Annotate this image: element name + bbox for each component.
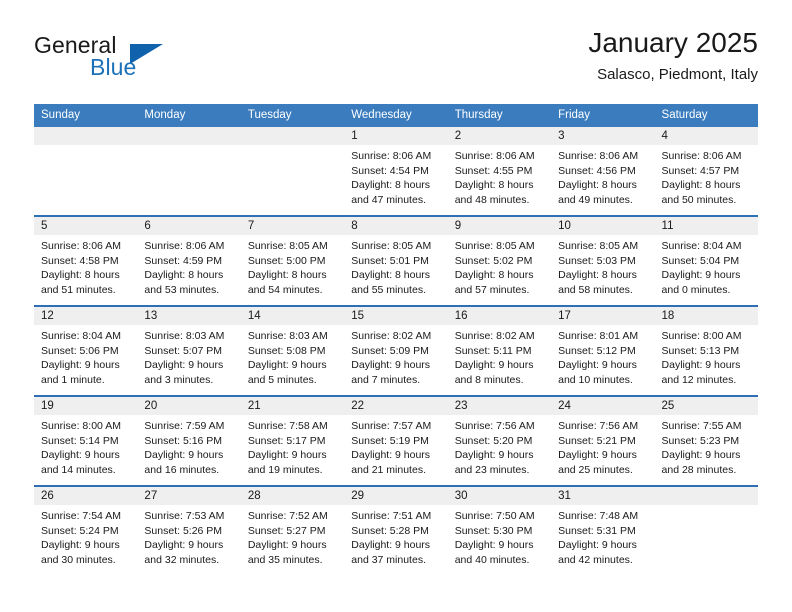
daylight-duration-line1: Daylight: 9 hours (41, 538, 130, 553)
title-block: January 2025 Salasco, Piedmont, Italy (588, 26, 758, 86)
sunset-time: Sunset: 5:16 PM (144, 434, 233, 449)
calendar-day-cell[interactable]: 21Sunrise: 7:58 AMSunset: 5:17 PMDayligh… (241, 397, 344, 485)
day-details: Sunrise: 7:51 AMSunset: 5:28 PMDaylight:… (344, 505, 447, 567)
sunset-time: Sunset: 4:58 PM (41, 254, 130, 269)
daylight-duration-line1: Daylight: 9 hours (558, 448, 647, 463)
weekday-header-monday: Monday (137, 104, 240, 127)
sunset-time: Sunset: 5:31 PM (558, 524, 647, 539)
sunrise-time: Sunrise: 8:06 AM (662, 149, 751, 164)
day-details: Sunrise: 7:59 AMSunset: 5:16 PMDaylight:… (137, 415, 240, 477)
daylight-duration-line2: and 7 minutes. (351, 373, 440, 388)
daylight-duration-line1: Daylight: 9 hours (248, 538, 337, 553)
sunset-time: Sunset: 5:01 PM (351, 254, 440, 269)
day-details: Sunrise: 8:02 AMSunset: 5:09 PMDaylight:… (344, 325, 447, 387)
calendar-day-cell-empty (241, 127, 344, 215)
sunset-time: Sunset: 5:27 PM (248, 524, 337, 539)
sunrise-time: Sunrise: 7:48 AM (558, 509, 647, 524)
day-details: Sunrise: 7:56 AMSunset: 5:20 PMDaylight:… (448, 415, 551, 477)
calendar-day-cell[interactable]: 24Sunrise: 7:56 AMSunset: 5:21 PMDayligh… (551, 397, 654, 485)
day-details: Sunrise: 8:05 AMSunset: 5:02 PMDaylight:… (448, 235, 551, 297)
sunset-time: Sunset: 5:14 PM (41, 434, 130, 449)
calendar-day-cell[interactable]: 30Sunrise: 7:50 AMSunset: 5:30 PMDayligh… (448, 487, 551, 575)
daylight-duration-line1: Daylight: 9 hours (662, 358, 751, 373)
day-details: Sunrise: 8:04 AMSunset: 5:04 PMDaylight:… (655, 235, 758, 297)
daylight-duration-line1: Daylight: 9 hours (351, 448, 440, 463)
sunset-time: Sunset: 5:13 PM (662, 344, 751, 359)
day-details: Sunrise: 7:48 AMSunset: 5:31 PMDaylight:… (551, 505, 654, 567)
calendar-week-row: 26Sunrise: 7:54 AMSunset: 5:24 PMDayligh… (34, 485, 758, 575)
day-number: 4 (655, 127, 758, 145)
calendar-day-cell-empty (655, 487, 758, 575)
daylight-duration-line2: and 32 minutes. (144, 553, 233, 568)
calendar-day-cell[interactable]: 18Sunrise: 8:00 AMSunset: 5:13 PMDayligh… (655, 307, 758, 395)
day-number (241, 127, 344, 145)
calendar-week-row: 19Sunrise: 8:00 AMSunset: 5:14 PMDayligh… (34, 395, 758, 485)
daylight-duration-line2: and 48 minutes. (455, 193, 544, 208)
sunrise-time: Sunrise: 7:57 AM (351, 419, 440, 434)
daylight-duration-line2: and 21 minutes. (351, 463, 440, 478)
sunrise-time: Sunrise: 7:52 AM (248, 509, 337, 524)
sunset-time: Sunset: 5:24 PM (41, 524, 130, 539)
day-details: Sunrise: 7:56 AMSunset: 5:21 PMDaylight:… (551, 415, 654, 477)
calendar-day-cell[interactable]: 20Sunrise: 7:59 AMSunset: 5:16 PMDayligh… (137, 397, 240, 485)
calendar-weeks: 1Sunrise: 8:06 AMSunset: 4:54 PMDaylight… (34, 127, 758, 575)
daylight-duration-line2: and 30 minutes. (41, 553, 130, 568)
day-details: Sunrise: 8:06 AMSunset: 4:58 PMDaylight:… (34, 235, 137, 297)
sunset-time: Sunset: 5:23 PM (662, 434, 751, 449)
daylight-duration-line1: Daylight: 8 hours (144, 268, 233, 283)
daylight-duration-line1: Daylight: 9 hours (41, 448, 130, 463)
sunrise-time: Sunrise: 7:59 AM (144, 419, 233, 434)
day-details: Sunrise: 7:52 AMSunset: 5:27 PMDaylight:… (241, 505, 344, 567)
sunrise-time: Sunrise: 8:05 AM (351, 239, 440, 254)
daylight-duration-line1: Daylight: 9 hours (455, 448, 544, 463)
daylight-duration-line1: Daylight: 8 hours (455, 178, 544, 193)
day-details: Sunrise: 7:54 AMSunset: 5:24 PMDaylight:… (34, 505, 137, 567)
daylight-duration-line2: and 35 minutes. (248, 553, 337, 568)
sunrise-time: Sunrise: 7:54 AM (41, 509, 130, 524)
day-number: 7 (241, 217, 344, 235)
calendar-week-row: 5Sunrise: 8:06 AMSunset: 4:58 PMDaylight… (34, 215, 758, 305)
daylight-duration-line2: and 14 minutes. (41, 463, 130, 478)
daylight-duration-line2: and 5 minutes. (248, 373, 337, 388)
day-details: Sunrise: 8:06 AMSunset: 4:55 PMDaylight:… (448, 145, 551, 207)
daylight-duration-line2: and 49 minutes. (558, 193, 647, 208)
daylight-duration-line2: and 8 minutes. (455, 373, 544, 388)
daylight-duration-line2: and 12 minutes. (662, 373, 751, 388)
calendar-day-cell[interactable]: 31Sunrise: 7:48 AMSunset: 5:31 PMDayligh… (551, 487, 654, 575)
day-number: 5 (34, 217, 137, 235)
day-number: 9 (448, 217, 551, 235)
day-number: 25 (655, 397, 758, 415)
daylight-duration-line2: and 19 minutes. (248, 463, 337, 478)
day-details: Sunrise: 8:05 AMSunset: 5:01 PMDaylight:… (344, 235, 447, 297)
daylight-duration-line2: and 53 minutes. (144, 283, 233, 298)
sunset-time: Sunset: 5:28 PM (351, 524, 440, 539)
day-details: Sunrise: 8:05 AMSunset: 5:00 PMDaylight:… (241, 235, 344, 297)
daylight-duration-line1: Daylight: 9 hours (558, 358, 647, 373)
sunrise-time: Sunrise: 8:01 AM (558, 329, 647, 344)
sunset-time: Sunset: 5:08 PM (248, 344, 337, 359)
sunset-time: Sunset: 5:11 PM (455, 344, 544, 359)
daylight-duration-line2: and 57 minutes. (455, 283, 544, 298)
sunset-time: Sunset: 5:09 PM (351, 344, 440, 359)
daylight-duration-line1: Daylight: 8 hours (455, 268, 544, 283)
calendar-day-cell-empty (137, 127, 240, 215)
sunset-time: Sunset: 5:19 PM (351, 434, 440, 449)
daylight-duration-line1: Daylight: 9 hours (144, 448, 233, 463)
daylight-duration-line2: and 10 minutes. (558, 373, 647, 388)
day-number: 28 (241, 487, 344, 505)
sunset-time: Sunset: 5:12 PM (558, 344, 647, 359)
calendar-day-cell[interactable]: 9Sunrise: 8:05 AMSunset: 5:02 PMDaylight… (448, 217, 551, 305)
daylight-duration-line2: and 3 minutes. (144, 373, 233, 388)
sunrise-time: Sunrise: 8:05 AM (558, 239, 647, 254)
page-title: January 2025 (588, 26, 758, 60)
daylight-duration-line1: Daylight: 9 hours (248, 358, 337, 373)
calendar-day-cell[interactable]: 29Sunrise: 7:51 AMSunset: 5:28 PMDayligh… (344, 487, 447, 575)
daylight-duration-line1: Daylight: 9 hours (41, 358, 130, 373)
day-number (34, 127, 137, 145)
daylight-duration-line1: Daylight: 8 hours (351, 178, 440, 193)
calendar-day-cell[interactable]: 22Sunrise: 7:57 AMSunset: 5:19 PMDayligh… (344, 397, 447, 485)
day-details: Sunrise: 8:05 AMSunset: 5:03 PMDaylight:… (551, 235, 654, 297)
sunrise-time: Sunrise: 8:04 AM (662, 239, 751, 254)
daylight-duration-line1: Daylight: 8 hours (351, 268, 440, 283)
sunrise-time: Sunrise: 7:55 AM (662, 419, 751, 434)
day-details: Sunrise: 8:00 AMSunset: 5:13 PMDaylight:… (655, 325, 758, 387)
calendar-day-cell[interactable]: 7Sunrise: 8:05 AMSunset: 5:00 PMDaylight… (241, 217, 344, 305)
day-number: 26 (34, 487, 137, 505)
sunrise-time: Sunrise: 8:05 AM (248, 239, 337, 254)
daylight-duration-line1: Daylight: 8 hours (41, 268, 130, 283)
daylight-duration-line2: and 0 minutes. (662, 283, 751, 298)
daylight-duration-line1: Daylight: 9 hours (662, 448, 751, 463)
sunrise-time: Sunrise: 7:56 AM (455, 419, 544, 434)
sunset-time: Sunset: 4:57 PM (662, 164, 751, 179)
weekday-header-saturday: Saturday (655, 104, 758, 127)
calendar-day-cell[interactable]: 17Sunrise: 8:01 AMSunset: 5:12 PMDayligh… (551, 307, 654, 395)
sunrise-time: Sunrise: 7:50 AM (455, 509, 544, 524)
day-number: 27 (137, 487, 240, 505)
day-details: Sunrise: 8:02 AMSunset: 5:11 PMDaylight:… (448, 325, 551, 387)
day-number (655, 487, 758, 505)
weekday-header-row: SundayMondayTuesdayWednesdayThursdayFrid… (34, 104, 758, 127)
day-details: Sunrise: 8:03 AMSunset: 5:08 PMDaylight:… (241, 325, 344, 387)
day-details: Sunrise: 8:04 AMSunset: 5:06 PMDaylight:… (34, 325, 137, 387)
day-number: 29 (344, 487, 447, 505)
sunset-time: Sunset: 5:17 PM (248, 434, 337, 449)
day-number: 31 (551, 487, 654, 505)
daylight-duration-line2: and 23 minutes. (455, 463, 544, 478)
daylight-duration-line1: Daylight: 9 hours (662, 268, 751, 283)
weekday-header-thursday: Thursday (448, 104, 551, 127)
daylight-duration-line2: and 42 minutes. (558, 553, 647, 568)
sunset-time: Sunset: 5:03 PM (558, 254, 647, 269)
brand-name-blue: Blue (90, 54, 136, 81)
sunrise-time: Sunrise: 8:00 AM (41, 419, 130, 434)
day-details: Sunrise: 8:06 AMSunset: 4:59 PMDaylight:… (137, 235, 240, 297)
day-number: 13 (137, 307, 240, 325)
brand-logo[interactable]: General Blue (34, 32, 254, 88)
calendar-day-cell[interactable]: 23Sunrise: 7:56 AMSunset: 5:20 PMDayligh… (448, 397, 551, 485)
calendar-grid: SundayMondayTuesdayWednesdayThursdayFrid… (34, 104, 758, 575)
day-number: 24 (551, 397, 654, 415)
daylight-duration-line1: Daylight: 9 hours (144, 358, 233, 373)
sunrise-time: Sunrise: 8:03 AM (248, 329, 337, 344)
daylight-duration-line1: Daylight: 8 hours (558, 268, 647, 283)
weekday-header-tuesday: Tuesday (241, 104, 344, 127)
daylight-duration-line1: Daylight: 9 hours (351, 538, 440, 553)
day-details: Sunrise: 7:50 AMSunset: 5:30 PMDaylight:… (448, 505, 551, 567)
day-number: 18 (655, 307, 758, 325)
daylight-duration-line1: Daylight: 9 hours (351, 358, 440, 373)
day-number: 16 (448, 307, 551, 325)
calendar-day-cell[interactable]: 12Sunrise: 8:04 AMSunset: 5:06 PMDayligh… (34, 307, 137, 395)
day-details: Sunrise: 8:06 AMSunset: 4:57 PMDaylight:… (655, 145, 758, 207)
calendar-day-cell[interactable]: 8Sunrise: 8:05 AMSunset: 5:01 PMDaylight… (344, 217, 447, 305)
sunrise-time: Sunrise: 8:05 AM (455, 239, 544, 254)
calendar-day-cell-empty (34, 127, 137, 215)
daylight-duration-line1: Daylight: 8 hours (662, 178, 751, 193)
day-details: Sunrise: 7:55 AMSunset: 5:23 PMDaylight:… (655, 415, 758, 477)
sunset-time: Sunset: 5:20 PM (455, 434, 544, 449)
sunrise-time: Sunrise: 8:04 AM (41, 329, 130, 344)
weekday-header-sunday: Sunday (34, 104, 137, 127)
sunrise-time: Sunrise: 8:06 AM (41, 239, 130, 254)
day-number: 14 (241, 307, 344, 325)
day-details: Sunrise: 7:57 AMSunset: 5:19 PMDaylight:… (344, 415, 447, 477)
daylight-duration-line1: Daylight: 8 hours (558, 178, 647, 193)
sunrise-time: Sunrise: 8:00 AM (662, 329, 751, 344)
day-number: 20 (137, 397, 240, 415)
sunset-time: Sunset: 5:30 PM (455, 524, 544, 539)
sunset-time: Sunset: 4:55 PM (455, 164, 544, 179)
daylight-duration-line2: and 28 minutes. (662, 463, 751, 478)
sunset-time: Sunset: 5:02 PM (455, 254, 544, 269)
day-details: Sunrise: 8:01 AMSunset: 5:12 PMDaylight:… (551, 325, 654, 387)
daylight-duration-line2: and 58 minutes. (558, 283, 647, 298)
calendar-day-cell[interactable]: 14Sunrise: 8:03 AMSunset: 5:08 PMDayligh… (241, 307, 344, 395)
daylight-duration-line2: and 47 minutes. (351, 193, 440, 208)
day-details: Sunrise: 8:03 AMSunset: 5:07 PMDaylight:… (137, 325, 240, 387)
daylight-duration-line1: Daylight: 9 hours (455, 358, 544, 373)
sunrise-time: Sunrise: 8:02 AM (455, 329, 544, 344)
daylight-duration-line2: and 54 minutes. (248, 283, 337, 298)
sunset-time: Sunset: 5:07 PM (144, 344, 233, 359)
sunset-time: Sunset: 5:26 PM (144, 524, 233, 539)
sunrise-time: Sunrise: 8:06 AM (558, 149, 647, 164)
sunset-time: Sunset: 4:56 PM (558, 164, 647, 179)
calendar-week-row: 1Sunrise: 8:06 AMSunset: 4:54 PMDaylight… (34, 127, 758, 215)
weekday-header-friday: Friday (551, 104, 654, 127)
day-details: Sunrise: 8:06 AMSunset: 4:54 PMDaylight:… (344, 145, 447, 207)
calendar-day-cell[interactable]: 28Sunrise: 7:52 AMSunset: 5:27 PMDayligh… (241, 487, 344, 575)
day-number: 6 (137, 217, 240, 235)
day-number: 2 (448, 127, 551, 145)
day-number: 17 (551, 307, 654, 325)
sunrise-time: Sunrise: 8:03 AM (144, 329, 233, 344)
sunrise-time: Sunrise: 7:58 AM (248, 419, 337, 434)
day-number: 30 (448, 487, 551, 505)
calendar-day-cell[interactable]: 6Sunrise: 8:06 AMSunset: 4:59 PMDaylight… (137, 217, 240, 305)
daylight-duration-line1: Daylight: 9 hours (248, 448, 337, 463)
daylight-duration-line1: Daylight: 8 hours (248, 268, 337, 283)
calendar-day-cell[interactable]: 10Sunrise: 8:05 AMSunset: 5:03 PMDayligh… (551, 217, 654, 305)
day-number: 8 (344, 217, 447, 235)
sunset-time: Sunset: 5:00 PM (248, 254, 337, 269)
calendar-day-cell[interactable]: 3Sunrise: 8:06 AMSunset: 4:56 PMDaylight… (551, 127, 654, 215)
calendar-day-cell[interactable]: 1Sunrise: 8:06 AMSunset: 4:54 PMDaylight… (344, 127, 447, 215)
day-number: 12 (34, 307, 137, 325)
sunrise-time: Sunrise: 7:51 AM (351, 509, 440, 524)
day-details: Sunrise: 7:58 AMSunset: 5:17 PMDaylight:… (241, 415, 344, 477)
page-header: General Blue January 2025 Salasco, Piedm… (34, 26, 758, 96)
calendar-day-cell[interactable]: 13Sunrise: 8:03 AMSunset: 5:07 PMDayligh… (137, 307, 240, 395)
daylight-duration-line2: and 40 minutes. (455, 553, 544, 568)
calendar-day-cell[interactable]: 4Sunrise: 8:06 AMSunset: 4:57 PMDaylight… (655, 127, 758, 215)
day-number: 21 (241, 397, 344, 415)
day-number: 23 (448, 397, 551, 415)
daylight-duration-line2: and 55 minutes. (351, 283, 440, 298)
day-number: 22 (344, 397, 447, 415)
calendar-day-cell[interactable]: 27Sunrise: 7:53 AMSunset: 5:26 PMDayligh… (137, 487, 240, 575)
daylight-duration-line1: Daylight: 9 hours (144, 538, 233, 553)
sunset-time: Sunset: 4:59 PM (144, 254, 233, 269)
calendar-day-cell[interactable]: 2Sunrise: 8:06 AMSunset: 4:55 PMDaylight… (448, 127, 551, 215)
daylight-duration-line2: and 16 minutes. (144, 463, 233, 478)
daylight-duration-line1: Daylight: 9 hours (455, 538, 544, 553)
sunrise-time: Sunrise: 8:06 AM (455, 149, 544, 164)
day-number: 11 (655, 217, 758, 235)
sunrise-time: Sunrise: 8:06 AM (351, 149, 440, 164)
daylight-duration-line2: and 1 minute. (41, 373, 130, 388)
day-number: 10 (551, 217, 654, 235)
day-details: Sunrise: 7:53 AMSunset: 5:26 PMDaylight:… (137, 505, 240, 567)
sunset-time: Sunset: 5:21 PM (558, 434, 647, 449)
calendar-day-cell[interactable]: 11Sunrise: 8:04 AMSunset: 5:04 PMDayligh… (655, 217, 758, 305)
calendar-day-cell[interactable]: 5Sunrise: 8:06 AMSunset: 4:58 PMDaylight… (34, 217, 137, 305)
sunset-time: Sunset: 5:04 PM (662, 254, 751, 269)
daylight-duration-line2: and 51 minutes. (41, 283, 130, 298)
page-subtitle: Salasco, Piedmont, Italy (588, 64, 758, 86)
sunrise-time: Sunrise: 8:02 AM (351, 329, 440, 344)
daylight-duration-line2: and 50 minutes. (662, 193, 751, 208)
calendar-week-row: 12Sunrise: 8:04 AMSunset: 5:06 PMDayligh… (34, 305, 758, 395)
day-details: Sunrise: 8:00 AMSunset: 5:14 PMDaylight:… (34, 415, 137, 477)
calendar-page: General Blue January 2025 Salasco, Piedm… (0, 0, 792, 612)
calendar-day-cell[interactable]: 26Sunrise: 7:54 AMSunset: 5:24 PMDayligh… (34, 487, 137, 575)
calendar-day-cell[interactable]: 19Sunrise: 8:00 AMSunset: 5:14 PMDayligh… (34, 397, 137, 485)
daylight-duration-line2: and 25 minutes. (558, 463, 647, 478)
daylight-duration-line2: and 37 minutes. (351, 553, 440, 568)
weekday-header-wednesday: Wednesday (344, 104, 447, 127)
day-number: 15 (344, 307, 447, 325)
sunrise-time: Sunrise: 8:06 AM (144, 239, 233, 254)
day-details: Sunrise: 8:06 AMSunset: 4:56 PMDaylight:… (551, 145, 654, 207)
calendar-day-cell[interactable]: 16Sunrise: 8:02 AMSunset: 5:11 PMDayligh… (448, 307, 551, 395)
day-number: 3 (551, 127, 654, 145)
day-number: 1 (344, 127, 447, 145)
sunrise-time: Sunrise: 7:53 AM (144, 509, 233, 524)
daylight-duration-line1: Daylight: 9 hours (558, 538, 647, 553)
sunrise-time: Sunrise: 7:56 AM (558, 419, 647, 434)
day-number (137, 127, 240, 145)
calendar-day-cell[interactable]: 25Sunrise: 7:55 AMSunset: 5:23 PMDayligh… (655, 397, 758, 485)
sunset-time: Sunset: 4:54 PM (351, 164, 440, 179)
sunset-time: Sunset: 5:06 PM (41, 344, 130, 359)
day-number: 19 (34, 397, 137, 415)
calendar-day-cell[interactable]: 15Sunrise: 8:02 AMSunset: 5:09 PMDayligh… (344, 307, 447, 395)
